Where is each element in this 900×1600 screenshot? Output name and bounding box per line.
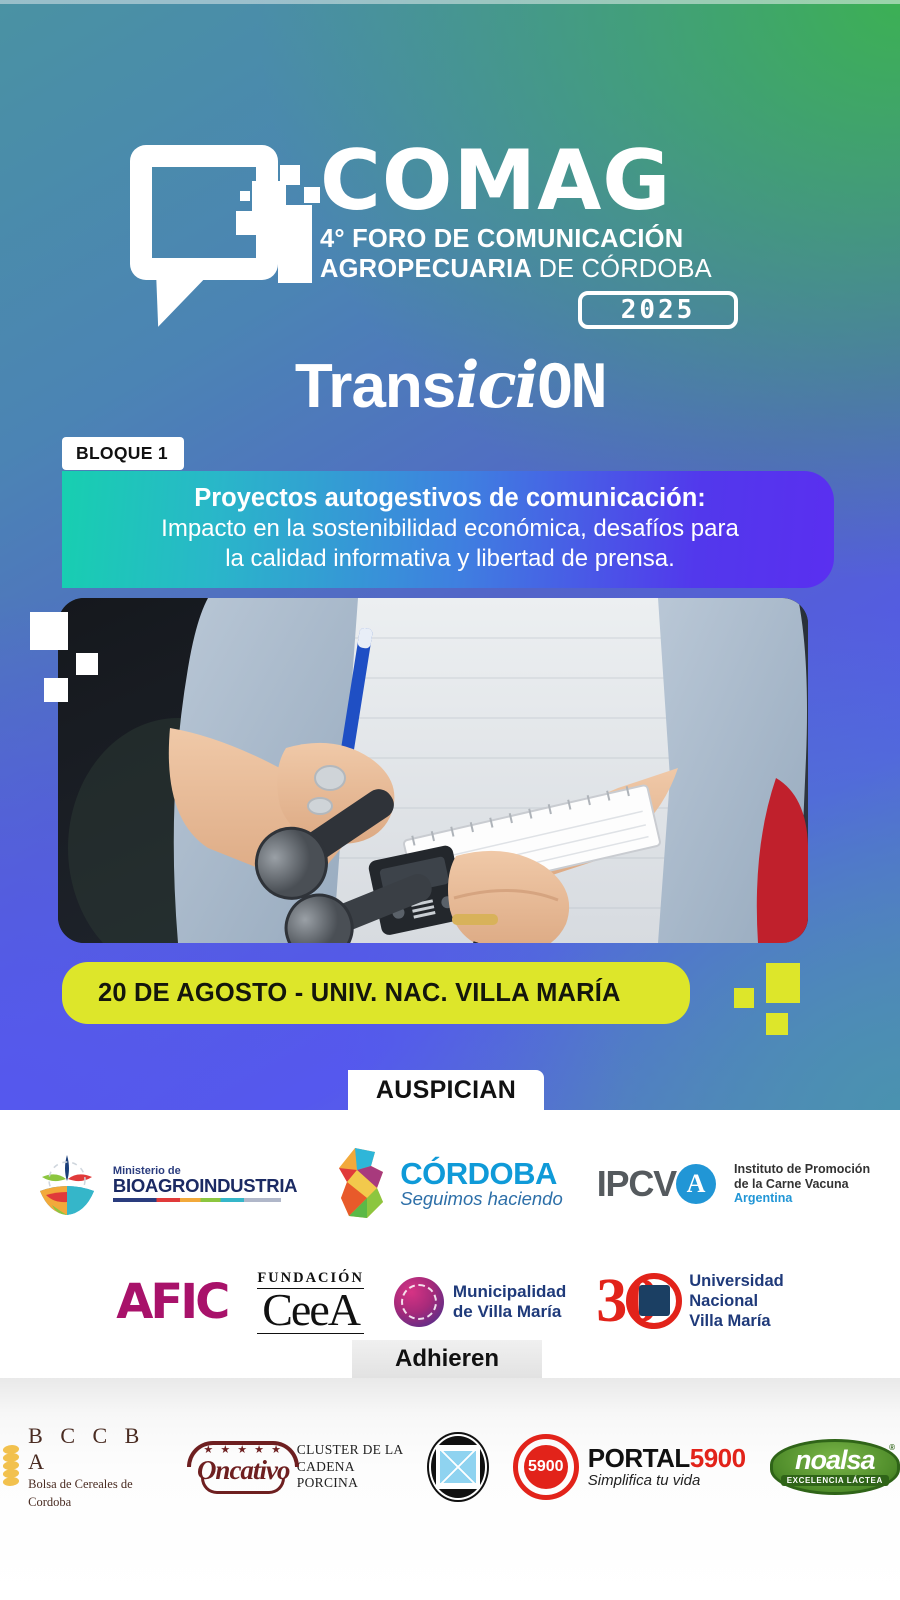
sponsor-logo-afic: AFIC [116, 1274, 227, 1330]
bccba-wordmark: B C C B A [28, 1423, 145, 1474]
year-label: 2025 [621, 295, 696, 325]
comag-wordmark: COMAG [320, 143, 790, 219]
oncativo-badge-icon: ★ ★ ★ ★ ★ Oncativo [183, 1439, 288, 1495]
block-subline-1: Impacto en la sostenibilidad económica, … [92, 514, 808, 543]
photo-illustration [58, 598, 808, 943]
theme-title: TransiciON [0, 348, 900, 423]
muni-line-1: Municipalidad [453, 1282, 566, 1301]
sponsor-logo-federacion-agraria-argentina [427, 1432, 488, 1502]
accent-square-small [734, 988, 754, 1008]
theme-part-script: ici [455, 348, 537, 423]
ceea-wordmark: CeeA [257, 1289, 364, 1331]
subtitle-bold: AGROPECUARIA [320, 255, 531, 283]
wheat-icon [0, 1445, 19, 1489]
comag-wordmark-block: COMAG 4° FORO DE COMUNICACIÓN AGROPECUAR… [320, 143, 790, 329]
oncativo-desc-2: CADENA PORCINA [297, 1459, 358, 1491]
municipal-shield-icon [394, 1277, 444, 1327]
theme-part-sans: Trans [295, 352, 455, 421]
bioagro-mark-icon [30, 1147, 104, 1221]
sponsor-logo-ceea: FUNDACIÓN CeeA [257, 1270, 364, 1334]
unvm-anniversary-icon: 30 [596, 1272, 680, 1332]
theme-part-pixel: ON [537, 352, 605, 422]
sponsor-logo-universidad-nacional-villa-maria: 30 Universidad Nacional Villa María [596, 1272, 783, 1332]
noalsa-tagline: EXCELENCIA LÁCTEA [781, 1475, 889, 1486]
forum-subtitle-line2: AGROPECUARIA DE CÓRDOBA [320, 255, 790, 284]
faa-flag-icon [436, 1445, 480, 1489]
oncativo-desc-1: CLUSTER DE LA [297, 1442, 404, 1457]
block-heading: Proyectos autogestivos de comunicación: [92, 483, 808, 513]
sponsor-logo-ipcva: IPCV A Instituto de Promoción de la Carn… [597, 1162, 870, 1206]
auspician-tab: AUSPICIAN [348, 1070, 544, 1110]
bioagro-rule [113, 1198, 281, 1202]
pixel-square-medium [76, 653, 98, 675]
sponsor-logo-oncativo: ★ ★ ★ ★ ★ Oncativo CLUSTER DE LA CADENA … [183, 1439, 403, 1495]
registered-mark-icon: ® [889, 1443, 895, 1452]
adhieren-label: Adhieren [395, 1345, 499, 1373]
bioagro-name: BIOAGROINDUSTRIA [113, 1177, 297, 1196]
cordoba-province-icon [331, 1146, 391, 1222]
ipcva-wordmark: IPCV [597, 1163, 676, 1205]
ipcva-desc-2: de la Carne Vacuna [734, 1177, 870, 1192]
unvm-line-3: Villa María [689, 1312, 770, 1330]
auspician-label: AUSPICIAN [376, 1076, 516, 1105]
date-venue-banner: 20 DE AGOSTO - UNIV. NAC. VILLA MARÍA [62, 962, 690, 1024]
pixel-square-large [30, 612, 68, 650]
adhieren-tab: Adhieren [352, 1340, 542, 1378]
sponsor-logo-portal5900: 5900 PORTAL5900 Simplifica tu vida [513, 1434, 746, 1500]
unvm-line-2: Nacional [689, 1292, 758, 1310]
year-badge: 2025 [578, 291, 738, 329]
muni-line-2: de Villa María [453, 1302, 561, 1321]
cordoba-name: CÓRDOBA [400, 1159, 563, 1188]
accent-square-medium [766, 1013, 788, 1035]
ipcva-circle-icon: A [676, 1164, 716, 1204]
block-tab-label: BLOQUE 1 [62, 437, 184, 470]
poster-root: COMAG 4° FORO DE COMUNICACIÓN AGROPECUAR… [0, 0, 900, 1600]
top-edge-highlight [0, 0, 900, 4]
date-venue-label: 20 DE AGOSTO - UNIV. NAC. VILLA MARÍA [98, 979, 621, 1008]
ipcva-desc-3: Argentina [734, 1191, 870, 1206]
unvm-line-1: Universidad [689, 1272, 783, 1290]
cordoba-tagline: Seguimos haciendo [400, 1189, 563, 1209]
ipcva-circle-letter: A [687, 1169, 706, 1199]
sponsor-logo-municipalidad-villa-maria: Municipalidad de Villa María [394, 1277, 566, 1327]
bccba-desc: Bolsa de Cereales de Cordoba [28, 1477, 132, 1509]
sponsor-logo-bioagroindustria: Ministerio de BIOAGROINDUSTRIA [30, 1147, 297, 1221]
portal5900-name-b: 5900 [690, 1443, 746, 1473]
ipcva-desc-1: Instituto de Promoción [734, 1162, 870, 1177]
sponsor-logo-noalsa: ® noalsa EXCELENCIA LÁCTEA [770, 1439, 900, 1495]
journalist-photo [58, 598, 808, 943]
afic-wordmark: AFIC [116, 1274, 227, 1330]
sponsor-logo-cordoba: CÓRDOBA Seguimos haciendo [331, 1146, 563, 1222]
forum-subtitle-line1: 4° FORO DE COMUNICACIÓN [320, 225, 790, 254]
portal5900-badge-number: 5900 [528, 1458, 564, 1476]
pixel-square-small [44, 678, 68, 702]
sponsor-row-1: Ministerio de BIOAGROINDUSTRIA CÓRDOBA S… [0, 1128, 900, 1240]
sponsor-row-3: B C C B A Bolsa de Cereales de Cordoba ★… [0, 1412, 900, 1522]
subtitle-light: DE CÓRDOBA [538, 255, 711, 283]
noalsa-wordmark: noalsa [795, 1448, 875, 1472]
portal5900-tagline: Simplifica tu vida [588, 1472, 701, 1489]
sponsor-logo-bccba: B C C B A Bolsa de Cereales de Cordoba [0, 1423, 159, 1511]
block-subline-2: la calidad informativa y libertad de pre… [92, 544, 808, 573]
comag-lockup: COMAG 4° FORO DE COMUNICACIÓN AGROPECUAR… [0, 143, 900, 343]
portal5900-name-a: PORTAL [588, 1443, 690, 1473]
accent-square-large [766, 963, 800, 1003]
portal5900-badge-icon: 5900 [513, 1434, 579, 1500]
speech-bubble-pixel-icon [128, 143, 310, 333]
block-description-bar: Proyectos autogestivos de comunicación: … [62, 471, 834, 588]
